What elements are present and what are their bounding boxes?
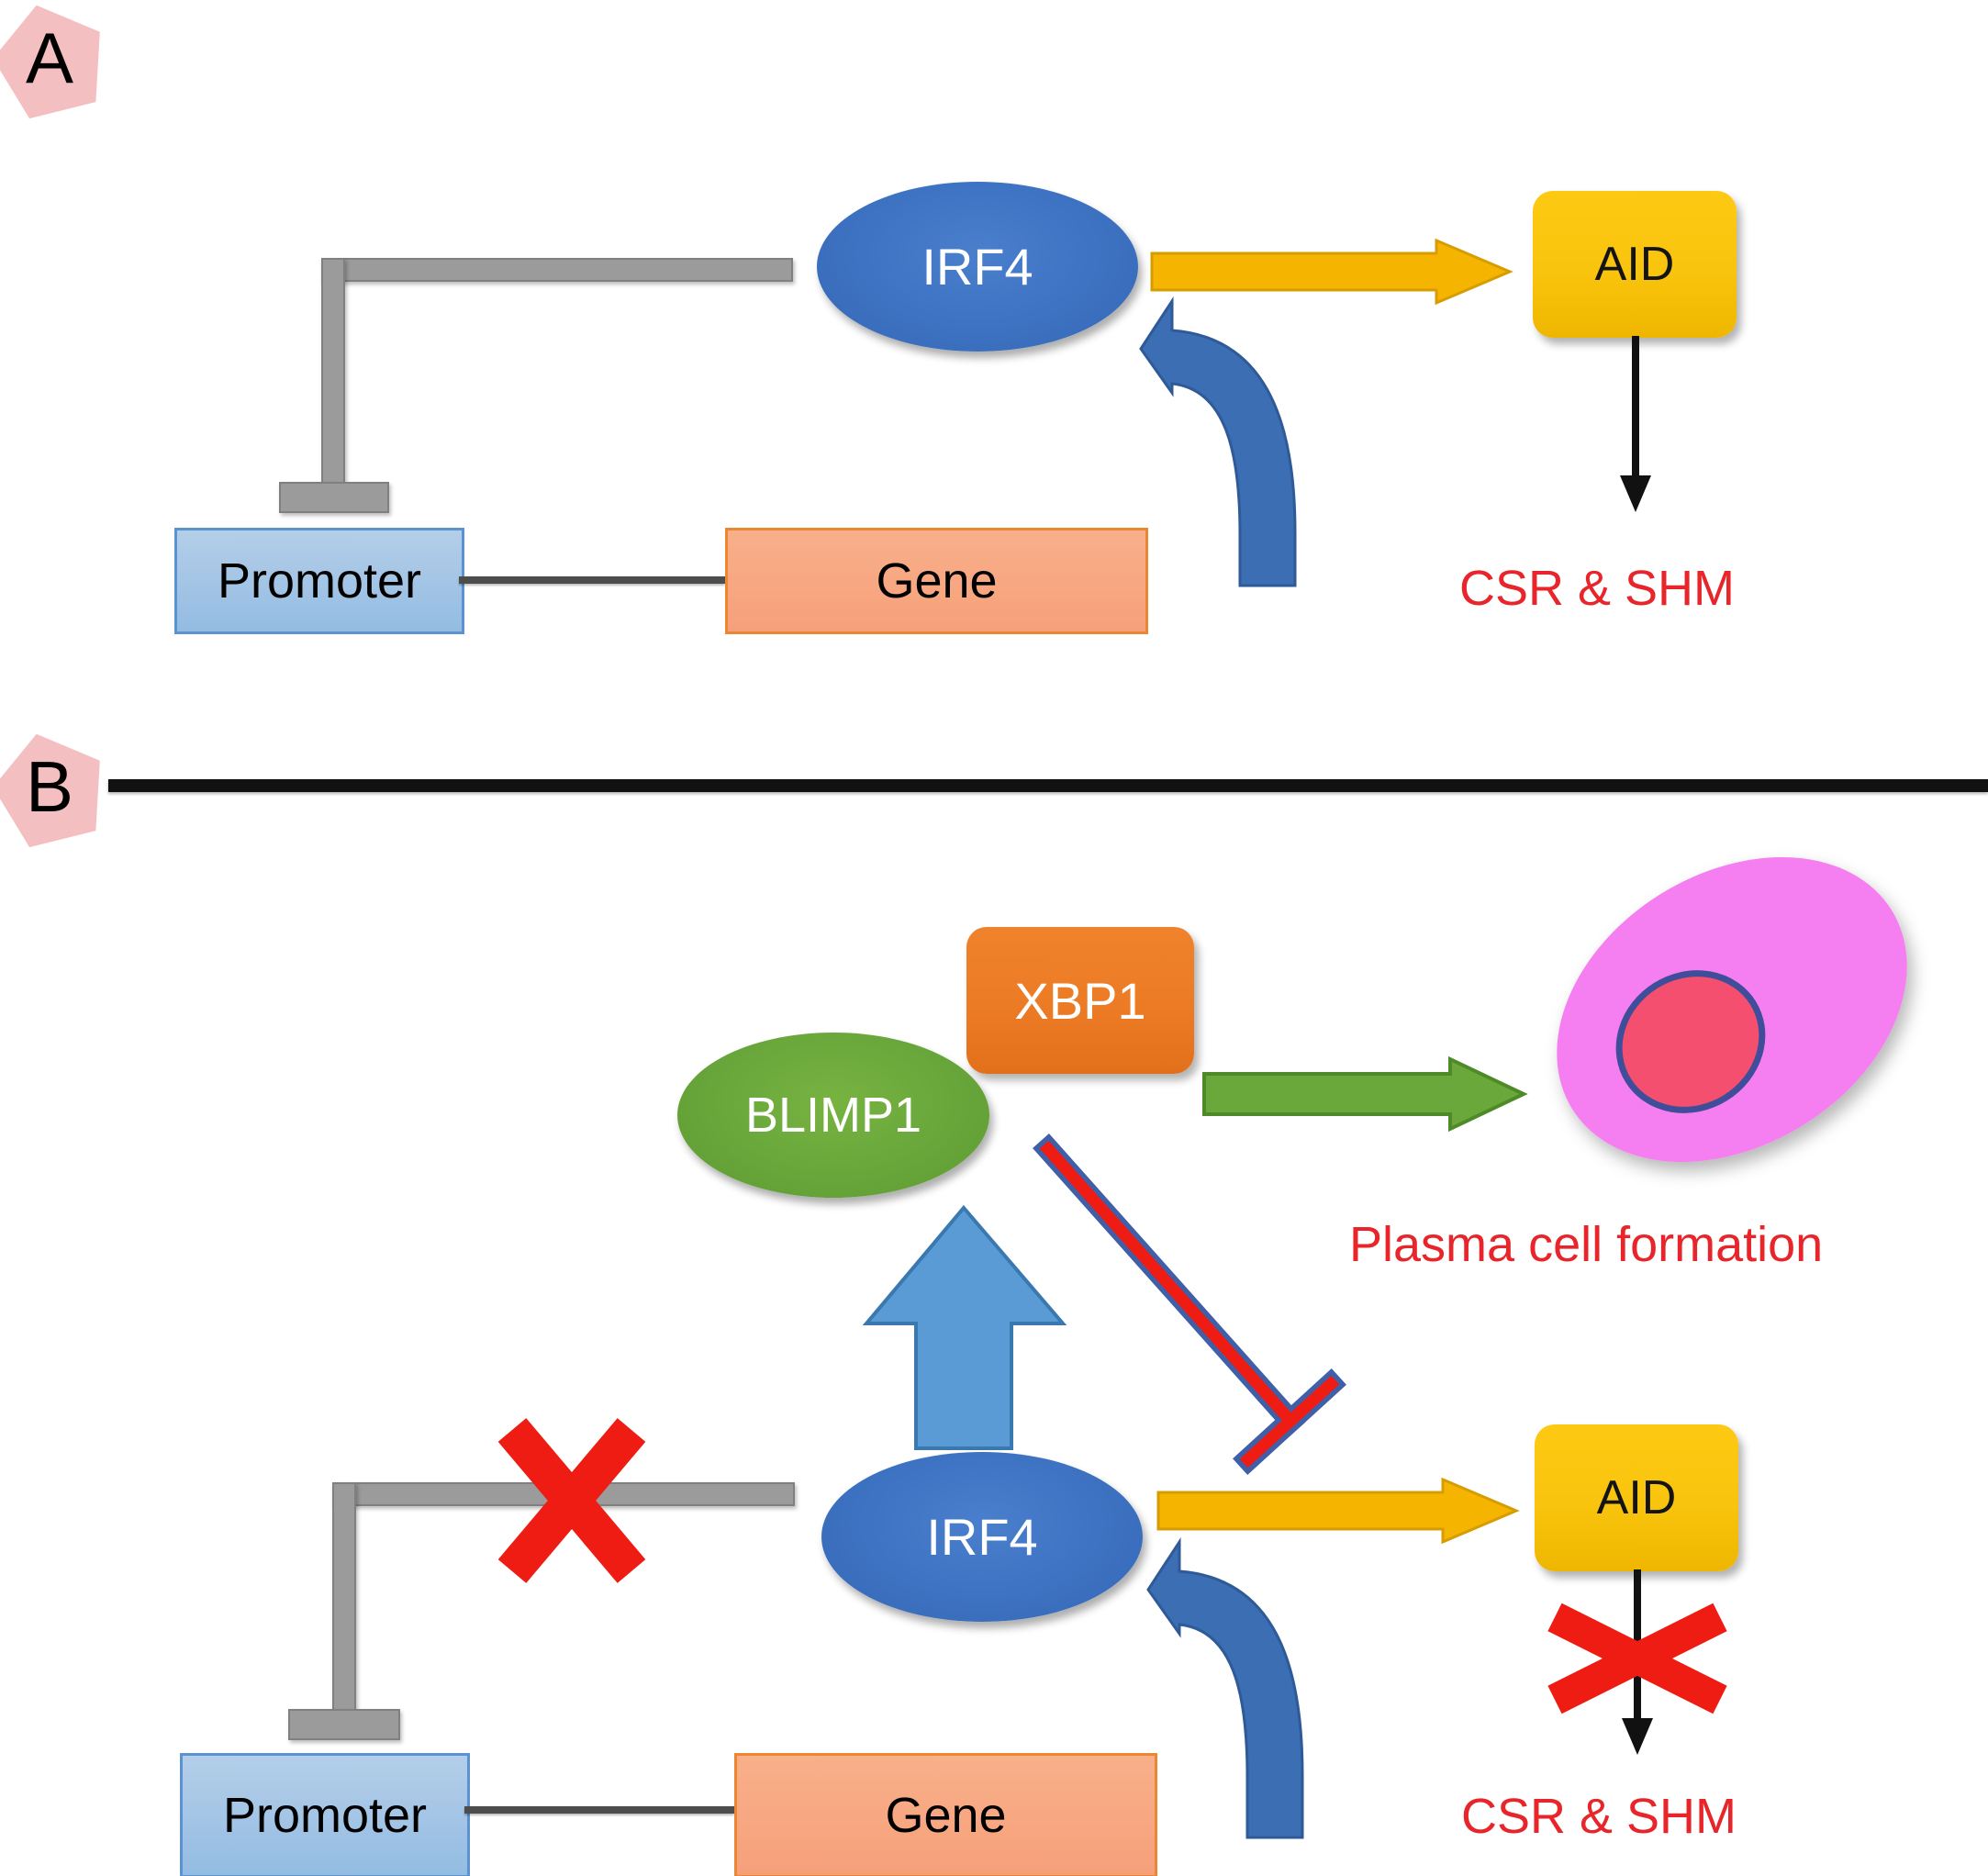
inhibition-bracket-vertical-b: [332, 1482, 356, 1734]
node-aid-panel-b[interactable]: AID: [1535, 1424, 1738, 1571]
panel-b-badge: B: [0, 732, 105, 841]
label-csr-shm-b: CSR & SHM: [1461, 1788, 1737, 1845]
node-irf4-panel-b[interactable]: IRF4: [821, 1452, 1143, 1622]
pathway-figure: A IRF4 AID CSR & SHM Promoter Gene B: [0, 0, 1988, 1876]
inhibition-bracket-foot-a: [279, 482, 389, 513]
inhibition-line-xbp1-to-aid: [1028, 1129, 1377, 1478]
label-csr-shm-a: CSR & SHM: [1459, 560, 1735, 617]
activation-arrow-to-plasma-cell: [1204, 1055, 1535, 1138]
inhibition-bracket-foot-b: [288, 1709, 400, 1740]
red-x-over-csr-shm-arrow: [1535, 1599, 1740, 1718]
plasma-cell-illustration: [1535, 844, 1929, 1184]
node-aid-panel-a[interactable]: AID: [1533, 191, 1737, 338]
node-aid-label-a: AID: [1595, 237, 1675, 292]
node-blimp1-panel-b[interactable]: BLIMP1: [677, 1033, 989, 1198]
node-xbp1-label-b: XBP1: [1014, 971, 1145, 1031]
node-promoter-label-b: Promoter: [223, 1787, 427, 1844]
node-xbp1-panel-b[interactable]: XBP1: [966, 927, 1194, 1074]
node-promoter-panel-a[interactable]: Promoter: [174, 528, 464, 634]
node-gene-label-b: Gene: [885, 1787, 1006, 1844]
node-gene-panel-a[interactable]: Gene: [725, 528, 1148, 634]
node-irf4-label-b: IRF4: [926, 1507, 1037, 1567]
connector-promoter-gene-a: [459, 576, 725, 584]
node-irf4-panel-a[interactable]: IRF4: [817, 182, 1138, 352]
upregulation-arrow-irf4-to-blimp1: [863, 1202, 1074, 1459]
node-promoter-label-a: Promoter: [218, 553, 421, 609]
feedback-arrow-gene-to-irf4-a: [1134, 294, 1335, 597]
red-x-over-promoter-inhibition: [486, 1413, 661, 1588]
node-promoter-panel-b[interactable]: Promoter: [180, 1753, 470, 1876]
inhibition-bracket-horizontal-a: [321, 258, 793, 282]
panel-divider: [108, 779, 1988, 792]
panel-a-badge: A: [0, 4, 105, 112]
panel-a-letter: A: [26, 22, 73, 94]
node-aid-label-b: AID: [1597, 1470, 1677, 1525]
node-blimp1-label-b: BLIMP1: [745, 1087, 921, 1144]
inhibition-bracket-vertical-a: [321, 258, 345, 505]
node-gene-label-a: Gene: [876, 553, 997, 609]
arrow-aid-to-outcome-a: [1604, 336, 1669, 519]
connector-promoter-gene-b: [464, 1806, 734, 1814]
node-irf4-label-a: IRF4: [921, 237, 1033, 296]
node-gene-panel-b[interactable]: Gene: [734, 1753, 1157, 1876]
label-plasma-cell-formation: Plasma cell formation: [1349, 1216, 1823, 1273]
panel-b-letter: B: [26, 751, 73, 822]
feedback-arrow-gene-to-irf4-b: [1141, 1535, 1343, 1847]
